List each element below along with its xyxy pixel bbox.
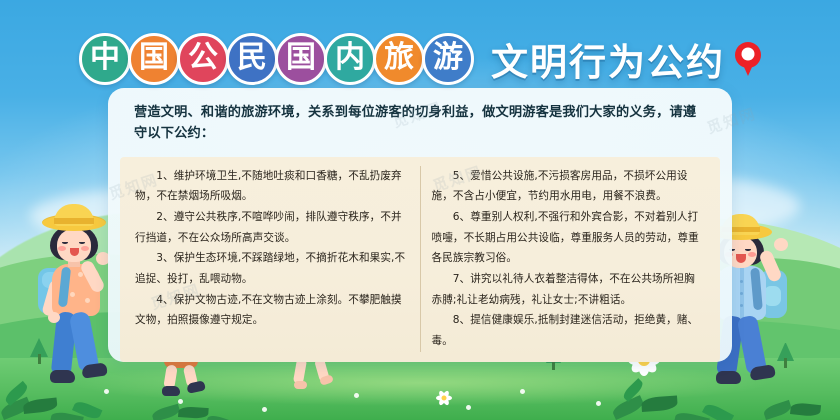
title-char: 国	[286, 43, 316, 73]
cheek	[58, 246, 66, 251]
title-char: 中	[90, 43, 120, 73]
rule-item: 2、遵守公共秩序,不喧哗吵闹，排队遵守秩序，不并行挡道，不在公众场所高声交谈。	[135, 207, 409, 248]
shoe	[50, 370, 75, 383]
title-char: 国	[139, 43, 169, 73]
hand	[774, 238, 788, 251]
cheek	[748, 252, 756, 257]
rule-item: 5、爱惜公共设施,不污损客房用品，不损坏公用设施，不含占小便宜，节约用水用电，用…	[432, 166, 706, 207]
foot	[294, 381, 307, 389]
eye	[79, 241, 85, 244]
title-char-badge: 旅	[373, 33, 425, 85]
rules-column-left: 1、维护环境卫生,不随地吐痰和口香糖，不乱扔废弃物，不在禁烟场所吸烟。 2、遵守…	[124, 166, 421, 352]
rules-panel: 1、维护环境卫生,不随地吐痰和口香糖，不乱扔废弃物，不在禁烟场所吸烟。 2、遵守…	[120, 157, 720, 362]
title-char-badge: 国	[275, 33, 327, 85]
tiny-flower	[466, 405, 471, 410]
title-char-badge: 游	[422, 33, 474, 85]
title-char-badge: 内	[324, 33, 376, 85]
tiny-flower	[262, 407, 267, 412]
tiny-flower	[596, 401, 601, 406]
cheek	[81, 246, 89, 251]
title-char: 游	[433, 43, 463, 73]
backpack-pocket	[764, 286, 781, 306]
location-pin-icon	[735, 42, 761, 76]
tiny-flower	[520, 389, 525, 394]
title-char-badge: 中	[79, 33, 131, 85]
eye	[745, 248, 751, 251]
rules-column-right: 5、爱惜公共设施,不污损客房用品，不损坏公用设施，不含占小便宜，节约用水用电，用…	[421, 166, 717, 352]
title-char-badge: 民	[226, 33, 278, 85]
shoe	[716, 371, 741, 384]
sun-hat-band	[54, 218, 94, 224]
poster-root: 中 国 公 民 国 内 旅 游 文明行为公约 营造文明、和谐的旅游环境，关系到每…	[0, 0, 840, 420]
rule-item: 7、讲究以礼待人衣着整洁得体，不在公共场所袒胸赤膊;礼让老幼病残，礼让女士;不讲…	[432, 269, 706, 310]
title-char: 旅	[384, 43, 414, 73]
title-char: 公	[188, 43, 218, 73]
rule-item: 6、尊重别人权利,不强行和外宾合影，不对着别人打喷嚏，不长期占用公共设临，尊重服…	[432, 207, 706, 269]
daisy-flower	[434, 388, 454, 408]
title-char: 内	[335, 43, 365, 73]
shoe	[81, 362, 108, 378]
shoe	[162, 386, 180, 396]
poster-title: 中 国 公 民 国 内 旅 游 文明行为公约	[0, 26, 840, 92]
rule-item: 4、保护文物古迹,不在文物古迹上涂刻。不攀肥触摸文物，拍照摄像遵守规定。	[135, 290, 409, 331]
leg	[69, 311, 100, 372]
rule-item: 8、提信健康娱乐,抵制封建迷信活动，拒绝黄，赌、毒。	[432, 310, 706, 351]
hand	[48, 312, 60, 323]
title-char-badge: 公	[177, 33, 229, 85]
rule-item: 1、维护环境卫生,不随地吐痰和口香糖，不乱扔废弃物，不在禁烟场所吸烟。	[135, 166, 409, 207]
title-char: 民	[237, 43, 267, 73]
intro-paragraph: 营造文明、和谐的旅游环境，关系到每位游客的切身利益，做文明游客是我们大家的义务，…	[108, 102, 732, 157]
eye	[62, 241, 68, 244]
title-main-text: 文明行为公约	[491, 32, 725, 86]
title-char-badge: 国	[128, 33, 180, 85]
rule-item: 3、保护生态环境,不踩踏绿地，不摘折花木和果实,不追捉、投打，乱喂动物。	[135, 248, 409, 289]
content-card: 营造文明、和谐的旅游环境，关系到每位游客的切身利益，做文明游客是我们大家的义务，…	[108, 88, 732, 362]
